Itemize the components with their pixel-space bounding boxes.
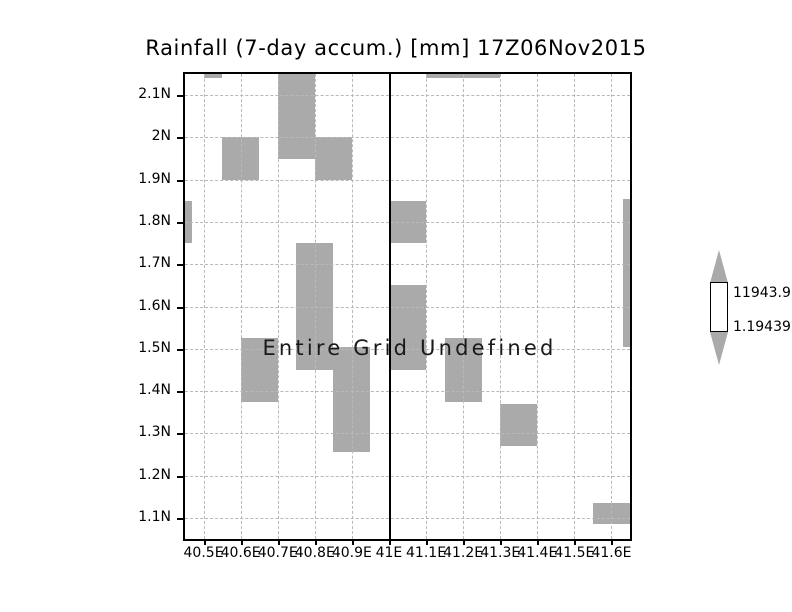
y-axis-tick-label: 2N xyxy=(111,128,171,144)
y-axis-tick-label: 1.6N xyxy=(111,298,171,314)
y-axis-tick-mark xyxy=(177,180,184,182)
page-title: Rainfall (7-day accum.) [mm] 17Z06Nov201… xyxy=(0,36,792,60)
gridline-horizontal xyxy=(185,476,630,477)
data-cell xyxy=(500,404,537,446)
x-axis-tick-mark xyxy=(426,539,428,545)
gridline-horizontal xyxy=(185,349,630,350)
data-cell xyxy=(278,74,315,78)
y-axis-tick-label: 1.1N xyxy=(111,509,171,525)
y-axis-tick-label: 1.5N xyxy=(111,340,171,356)
data-cell xyxy=(315,137,352,179)
x-axis-tick-mark xyxy=(574,539,576,545)
colorbar-box xyxy=(710,282,728,332)
y-axis-tick-mark xyxy=(177,349,184,351)
x-axis-tick-mark xyxy=(611,539,613,545)
x-axis-tick-mark xyxy=(352,539,354,545)
colorbar-arrow-down-icon xyxy=(710,332,728,365)
y-axis-tick-mark xyxy=(177,391,184,393)
x-axis-tick-mark xyxy=(463,539,465,545)
y-axis-tick-label: 1.9N xyxy=(111,171,171,187)
colorbar-max-label: 11943.9 xyxy=(733,285,791,301)
gridline-horizontal xyxy=(185,137,630,138)
y-axis-tick-label: 1.2N xyxy=(111,467,171,483)
data-cell xyxy=(241,338,278,401)
y-axis-tick-mark xyxy=(177,518,184,520)
x-axis-tick-mark xyxy=(204,539,206,545)
y-axis-tick-label: 1.7N xyxy=(111,255,171,271)
gridline-horizontal xyxy=(185,518,630,519)
data-cell xyxy=(389,285,426,370)
gridline-horizontal xyxy=(185,307,630,308)
y-axis-tick-mark xyxy=(177,222,184,224)
y-axis-tick-label: 1.4N xyxy=(111,382,171,398)
x-axis-tick-mark xyxy=(537,539,539,545)
x-axis-tick-label: 41.6E xyxy=(586,545,636,561)
y-axis-tick-mark xyxy=(177,476,184,478)
gridline-horizontal xyxy=(185,180,630,181)
y-axis-tick-mark xyxy=(177,433,184,435)
y-axis-tick-mark xyxy=(177,307,184,309)
data-cell xyxy=(278,74,315,159)
y-axis-tick-mark xyxy=(177,137,184,139)
y-axis-tick-label: 2.1N xyxy=(111,86,171,102)
x-axis-tick-mark xyxy=(500,539,502,545)
plot-area[interactable]: Entire Grid Undefined xyxy=(183,72,632,541)
y-axis-tick-label: 1.3N xyxy=(111,424,171,440)
colorbar[interactable]: 11943.9 1.19439 xyxy=(700,252,792,362)
data-cell xyxy=(204,74,223,78)
grads-plot-canvas: Rainfall (7-day accum.) [mm] 17Z06Nov201… xyxy=(0,0,792,612)
y-axis-tick-mark xyxy=(177,264,184,266)
x-axis-tick-mark xyxy=(278,539,280,545)
gridline-horizontal xyxy=(185,433,630,434)
x-axis-tick-mark xyxy=(389,539,391,545)
gridline-horizontal xyxy=(185,264,630,265)
x-axis-tick-mark xyxy=(315,539,317,545)
plot-inner xyxy=(185,74,630,539)
data-cell xyxy=(623,199,630,347)
y-axis-tick-mark xyxy=(177,95,184,97)
gridline-horizontal xyxy=(185,222,630,223)
y-axis-tick-label: 1.8N xyxy=(111,213,171,229)
gridline-horizontal xyxy=(185,95,630,96)
gridline-horizontal xyxy=(185,391,630,392)
colorbar-arrow-up-icon xyxy=(710,250,728,283)
x-axis-tick-mark xyxy=(241,539,243,545)
colorbar-min-label: 1.19439 xyxy=(733,319,791,335)
